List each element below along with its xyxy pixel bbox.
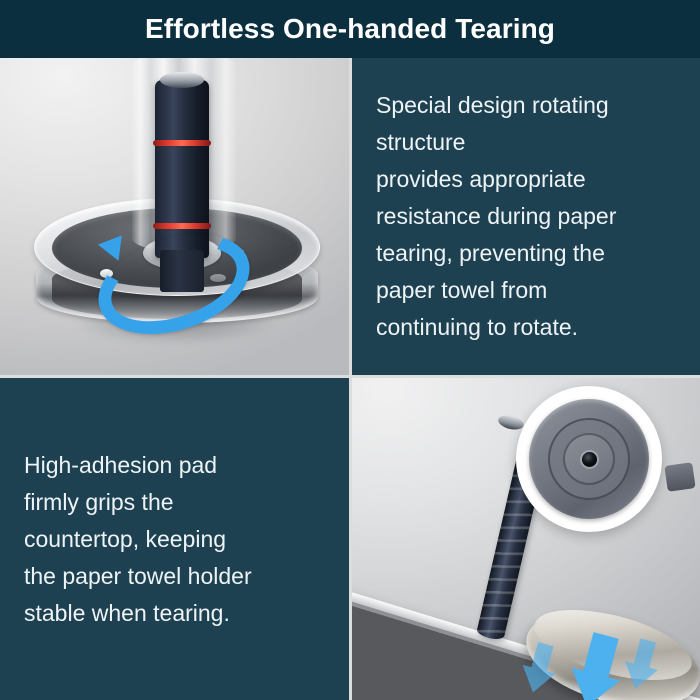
pole-cap bbox=[497, 413, 525, 432]
adhesion-pad-photo-cell bbox=[352, 378, 700, 700]
copy-line: paper towel from bbox=[376, 272, 616, 309]
copy-line: firmly grips the bbox=[24, 484, 252, 521]
red-accent-ring bbox=[153, 223, 211, 229]
adhesion-pad-copy: High-adhesion pad firmly grips the count… bbox=[24, 447, 252, 632]
arrow-head bbox=[619, 661, 658, 693]
header-banner: Effortless One-handed Tearing bbox=[0, 0, 700, 58]
copy-line: provides appropriate bbox=[376, 161, 616, 198]
copy-line: tearing, preventing the bbox=[376, 235, 616, 272]
adhesion-pad-text-cell: High-adhesion pad firmly grips the count… bbox=[0, 378, 352, 700]
navy-pole bbox=[155, 80, 209, 258]
red-accent-ring bbox=[153, 140, 211, 146]
copy-line: Special design rotating bbox=[376, 87, 616, 124]
rotating-base-photo-cell bbox=[0, 58, 352, 378]
rotating-structure-copy: Special design rotating structure provid… bbox=[376, 87, 616, 346]
infographic-page: Effortless One-handed Tearing bbox=[0, 0, 700, 700]
copy-line: High-adhesion pad bbox=[24, 447, 252, 484]
down-arrow-large bbox=[563, 629, 630, 700]
down-arrow-small bbox=[516, 640, 562, 697]
copy-line: the paper towel holder bbox=[24, 558, 252, 595]
rotating-structure-panel: Special design rotating structure provid… bbox=[352, 58, 700, 375]
adhesion-pad-photo bbox=[352, 378, 700, 700]
arrow-head bbox=[516, 665, 555, 697]
adhesion-pad-closeup bbox=[529, 399, 649, 519]
arrow-shaft bbox=[634, 638, 656, 667]
quadrant-grid: Special design rotating structure provid… bbox=[0, 58, 700, 700]
rotating-structure-text-cell: Special design rotating structure provid… bbox=[352, 58, 700, 378]
rotating-base-photo bbox=[0, 58, 349, 375]
arrow-shaft bbox=[531, 642, 553, 671]
copy-line: stable when tearing. bbox=[24, 595, 252, 632]
pad-center-screw bbox=[582, 452, 597, 467]
rotation-arrow-icon bbox=[96, 238, 252, 330]
copy-line: continuing to rotate. bbox=[376, 309, 616, 346]
arrow-head bbox=[563, 668, 620, 700]
arrow-shaft bbox=[583, 632, 618, 677]
pad-stub bbox=[664, 462, 695, 492]
copy-line: countertop, keeping bbox=[24, 521, 252, 558]
pole-cap bbox=[160, 72, 204, 88]
copy-line: structure bbox=[376, 124, 616, 161]
copy-line: resistance during paper bbox=[376, 198, 616, 235]
adhesion-pad-inset bbox=[516, 386, 662, 532]
adhesion-pad-panel: High-adhesion pad firmly grips the count… bbox=[0, 378, 349, 700]
page-title: Effortless One-handed Tearing bbox=[145, 15, 555, 43]
